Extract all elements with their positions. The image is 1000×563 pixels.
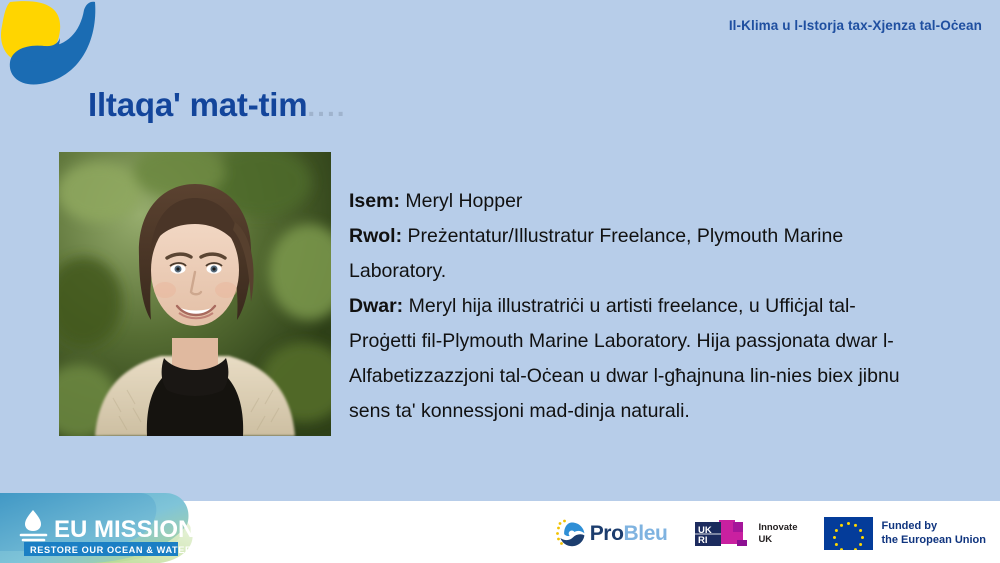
bio-about-line: Dwar: Meryl hija illustratriċi u artisti… bbox=[349, 289, 919, 429]
bio-text-block: Isem: Meryl Hopper Rwol: Preżentatur/Ill… bbox=[349, 184, 919, 429]
page-title-text: Iltaqa' mat-tim bbox=[88, 86, 307, 123]
avatar bbox=[59, 152, 331, 436]
innovate-uk-line1: Innovate bbox=[758, 522, 797, 534]
bio-name-value: Meryl Hopper bbox=[400, 190, 522, 212]
bio-name-label: Isem: bbox=[349, 190, 400, 212]
eu-missions-logo: EU MISSIONS RESTORE OUR OCEAN & WATERS bbox=[0, 493, 205, 563]
probleu-swirl-icon bbox=[554, 518, 586, 550]
bio-role-label: Rwol: bbox=[349, 225, 402, 247]
probleu-wordmark: ProBleu bbox=[590, 522, 668, 546]
ukri-innovate-uk-logo: UK RI Innovate UK bbox=[693, 518, 797, 550]
innovate-uk-line2: UK bbox=[758, 534, 797, 546]
probleu-word-pro: Pro bbox=[590, 522, 624, 545]
probleu-word-bleu: Bleu bbox=[624, 522, 668, 545]
page-title-ellipsis: .... bbox=[307, 91, 346, 122]
bio-name-line: Isem: Meryl Hopper bbox=[349, 184, 919, 219]
bio-about-value: Meryl hija illustratriċi u artisti freel… bbox=[349, 295, 900, 422]
slide-canvas: Il-Klima u l-Istorja tax-Xjenza tal-Oċea… bbox=[0, 0, 1000, 563]
eu-missions-tagline: RESTORE OUR OCEAN & WATERS bbox=[30, 545, 199, 555]
eu-flag-icon bbox=[824, 517, 873, 550]
innovate-uk-wordmark: Innovate UK bbox=[758, 522, 797, 545]
course-title: Il-Klima u l-Istorja tax-Xjenza tal-Oċea… bbox=[729, 18, 982, 33]
page-title: Iltaqa' mat-tim.... bbox=[88, 86, 347, 124]
funded-by-eu-line1: Funded by bbox=[882, 520, 987, 534]
ukri-mark-icon: UK RI bbox=[693, 518, 751, 550]
eu-missions-title: EU MISSIONS bbox=[54, 516, 205, 543]
probleu-logo: ProBleu bbox=[554, 518, 668, 550]
bio-role-value: Preżentatur/Illustratur Freelance, Plymo… bbox=[349, 225, 843, 282]
footer-bar: EU MISSIONS RESTORE OUR OCEAN & WATERS bbox=[0, 501, 1000, 563]
partner-logos: ProBleu UK RI bbox=[554, 517, 986, 550]
bio-role-line: Rwol: Preżentatur/Illustratur Freelance,… bbox=[349, 219, 919, 289]
svg-text:RI: RI bbox=[698, 535, 708, 546]
problue-crescent-wave-logo bbox=[0, 0, 108, 92]
funded-by-eu-wordmark: Funded by the European Union bbox=[882, 520, 987, 547]
funded-by-european-union-logo: Funded by the European Union bbox=[824, 517, 987, 550]
bio-about-label: Dwar: bbox=[349, 295, 403, 317]
funded-by-eu-line2: the European Union bbox=[882, 534, 987, 548]
